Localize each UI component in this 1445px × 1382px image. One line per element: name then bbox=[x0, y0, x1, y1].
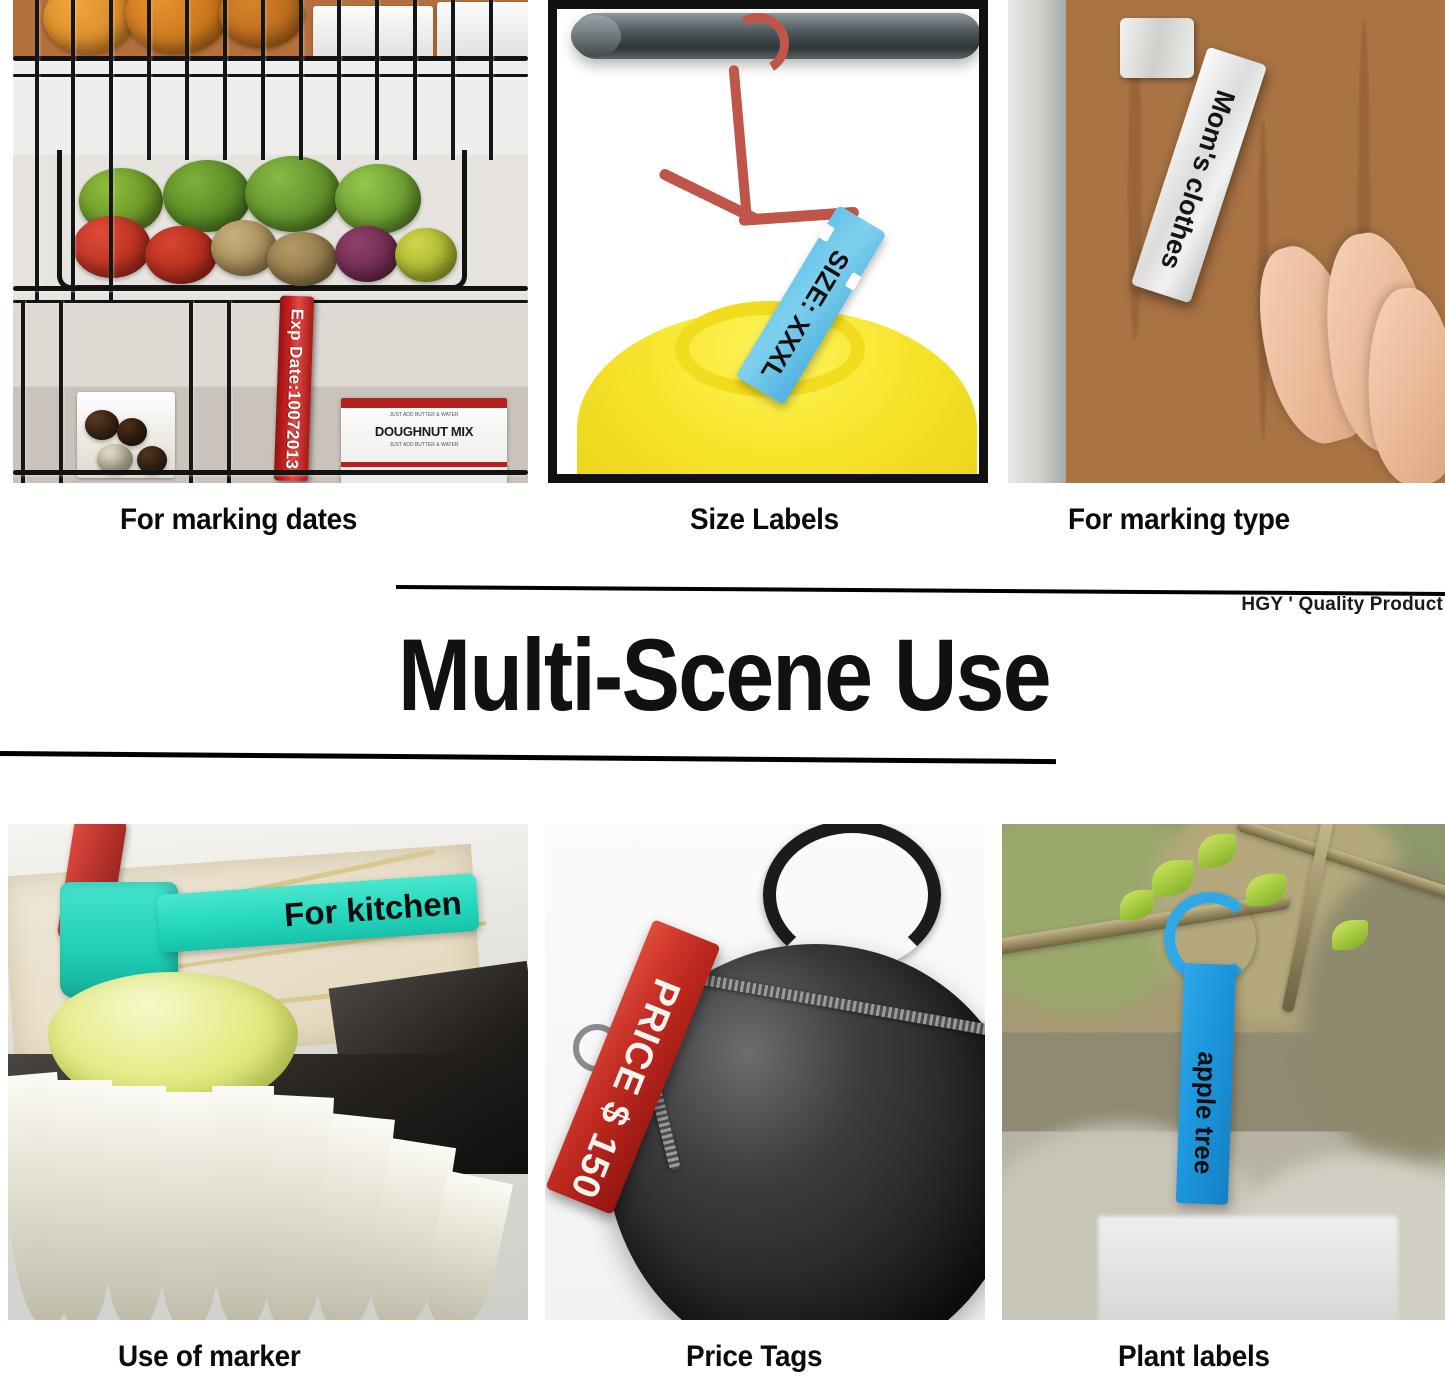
door-edge-panel bbox=[1008, 0, 1066, 483]
rack-wire bbox=[109, 0, 113, 300]
door-hook-plate bbox=[1120, 18, 1194, 78]
plant-pot bbox=[1098, 1216, 1398, 1320]
photo-marking-dates: JUST ADD BUTTER & WATER DOUGHNUT MIX JUS… bbox=[13, 0, 528, 483]
photo-marking-type: Mom's clothes bbox=[1008, 0, 1445, 483]
tag-plant-label-text: apple tree bbox=[1187, 1051, 1222, 1175]
rack-wire bbox=[337, 0, 341, 160]
tag-mom-clothes: Mom's clothes bbox=[1131, 47, 1267, 304]
rack-wire bbox=[71, 0, 75, 300]
tag-for-kitchen-text: For kitchen bbox=[283, 884, 463, 934]
caption-marking-type: For marking type bbox=[1068, 503, 1290, 537]
rack-wire bbox=[261, 0, 265, 160]
mop-strands bbox=[52, 1080, 112, 1320]
caption-marking-dates: For marking dates bbox=[120, 503, 357, 537]
produce-item bbox=[245, 156, 341, 232]
produce-item bbox=[335, 164, 421, 234]
rack-wire bbox=[299, 0, 303, 160]
box-color-band bbox=[341, 462, 507, 467]
page-title: Multi-Scene Use bbox=[398, 620, 1052, 730]
mop-strands bbox=[158, 1092, 220, 1320]
rack-wire bbox=[13, 300, 528, 303]
produce-item bbox=[85, 410, 119, 440]
tag-exp-date-text: Exp Date:10072013 bbox=[281, 308, 307, 469]
mop-strands bbox=[104, 1086, 166, 1320]
brand-tagline: HGY ' Quality Product bbox=[1241, 594, 1443, 616]
rack-wire bbox=[21, 300, 25, 483]
caption-use-of-marker: Use of marker bbox=[118, 1340, 300, 1374]
photo-plant-labels: apple tree bbox=[1002, 824, 1445, 1320]
produce-item bbox=[335, 226, 399, 282]
tag-notch bbox=[845, 272, 862, 291]
rail-end-cap bbox=[571, 15, 621, 57]
box-subtitle: JUST ADD BUTTER & WATER bbox=[341, 442, 507, 448]
rack-wire bbox=[189, 300, 193, 483]
tag-exp-date: Exp Date:10072013 bbox=[274, 295, 314, 481]
caption-price-tags: Price Tags bbox=[686, 1340, 822, 1374]
photo-size-labels: SIZE: XXXL bbox=[548, 0, 988, 483]
divider-line-bottom bbox=[0, 751, 1056, 764]
rack-wire bbox=[375, 0, 379, 160]
tag-mom-clothes-text: Mom's clothes bbox=[1154, 86, 1241, 273]
produce-item bbox=[267, 232, 337, 286]
rack-wire bbox=[59, 300, 63, 483]
caption-size-labels: Size Labels bbox=[690, 503, 839, 537]
rack-wire bbox=[13, 286, 528, 291]
rack-wire bbox=[413, 0, 417, 160]
wood-grain bbox=[1128, 40, 1142, 340]
caption-plant-labels: Plant labels bbox=[1118, 1340, 1270, 1374]
tag-notch bbox=[818, 223, 835, 242]
rack-wire bbox=[35, 0, 39, 300]
rack-wire bbox=[223, 0, 227, 160]
photo-use-of-marker: For kitchen bbox=[8, 824, 528, 1320]
rack-wire bbox=[451, 0, 455, 160]
tag-plant-label: apple tree bbox=[1176, 963, 1236, 1205]
rack-wire bbox=[147, 0, 151, 160]
box-brand-line: JUST ADD BUTTER & WATER bbox=[341, 412, 507, 418]
hanger-neck bbox=[728, 65, 751, 215]
box-color-band bbox=[341, 398, 507, 408]
produce-item bbox=[117, 418, 147, 446]
photo-price-tags: PRICE $ 150 bbox=[545, 824, 985, 1320]
rack-wire bbox=[13, 470, 528, 475]
box-title: DOUGHNUT MIX bbox=[341, 424, 507, 439]
rack-wire bbox=[489, 0, 493, 160]
produce-item bbox=[145, 226, 217, 284]
produce-item bbox=[395, 228, 457, 282]
rack-wire bbox=[227, 300, 231, 483]
rack-wire bbox=[185, 0, 189, 160]
product-infographic: JUST ADD BUTTER & WATER DOUGHNUT MIX JUS… bbox=[0, 0, 1445, 1382]
produce-item bbox=[211, 220, 277, 276]
